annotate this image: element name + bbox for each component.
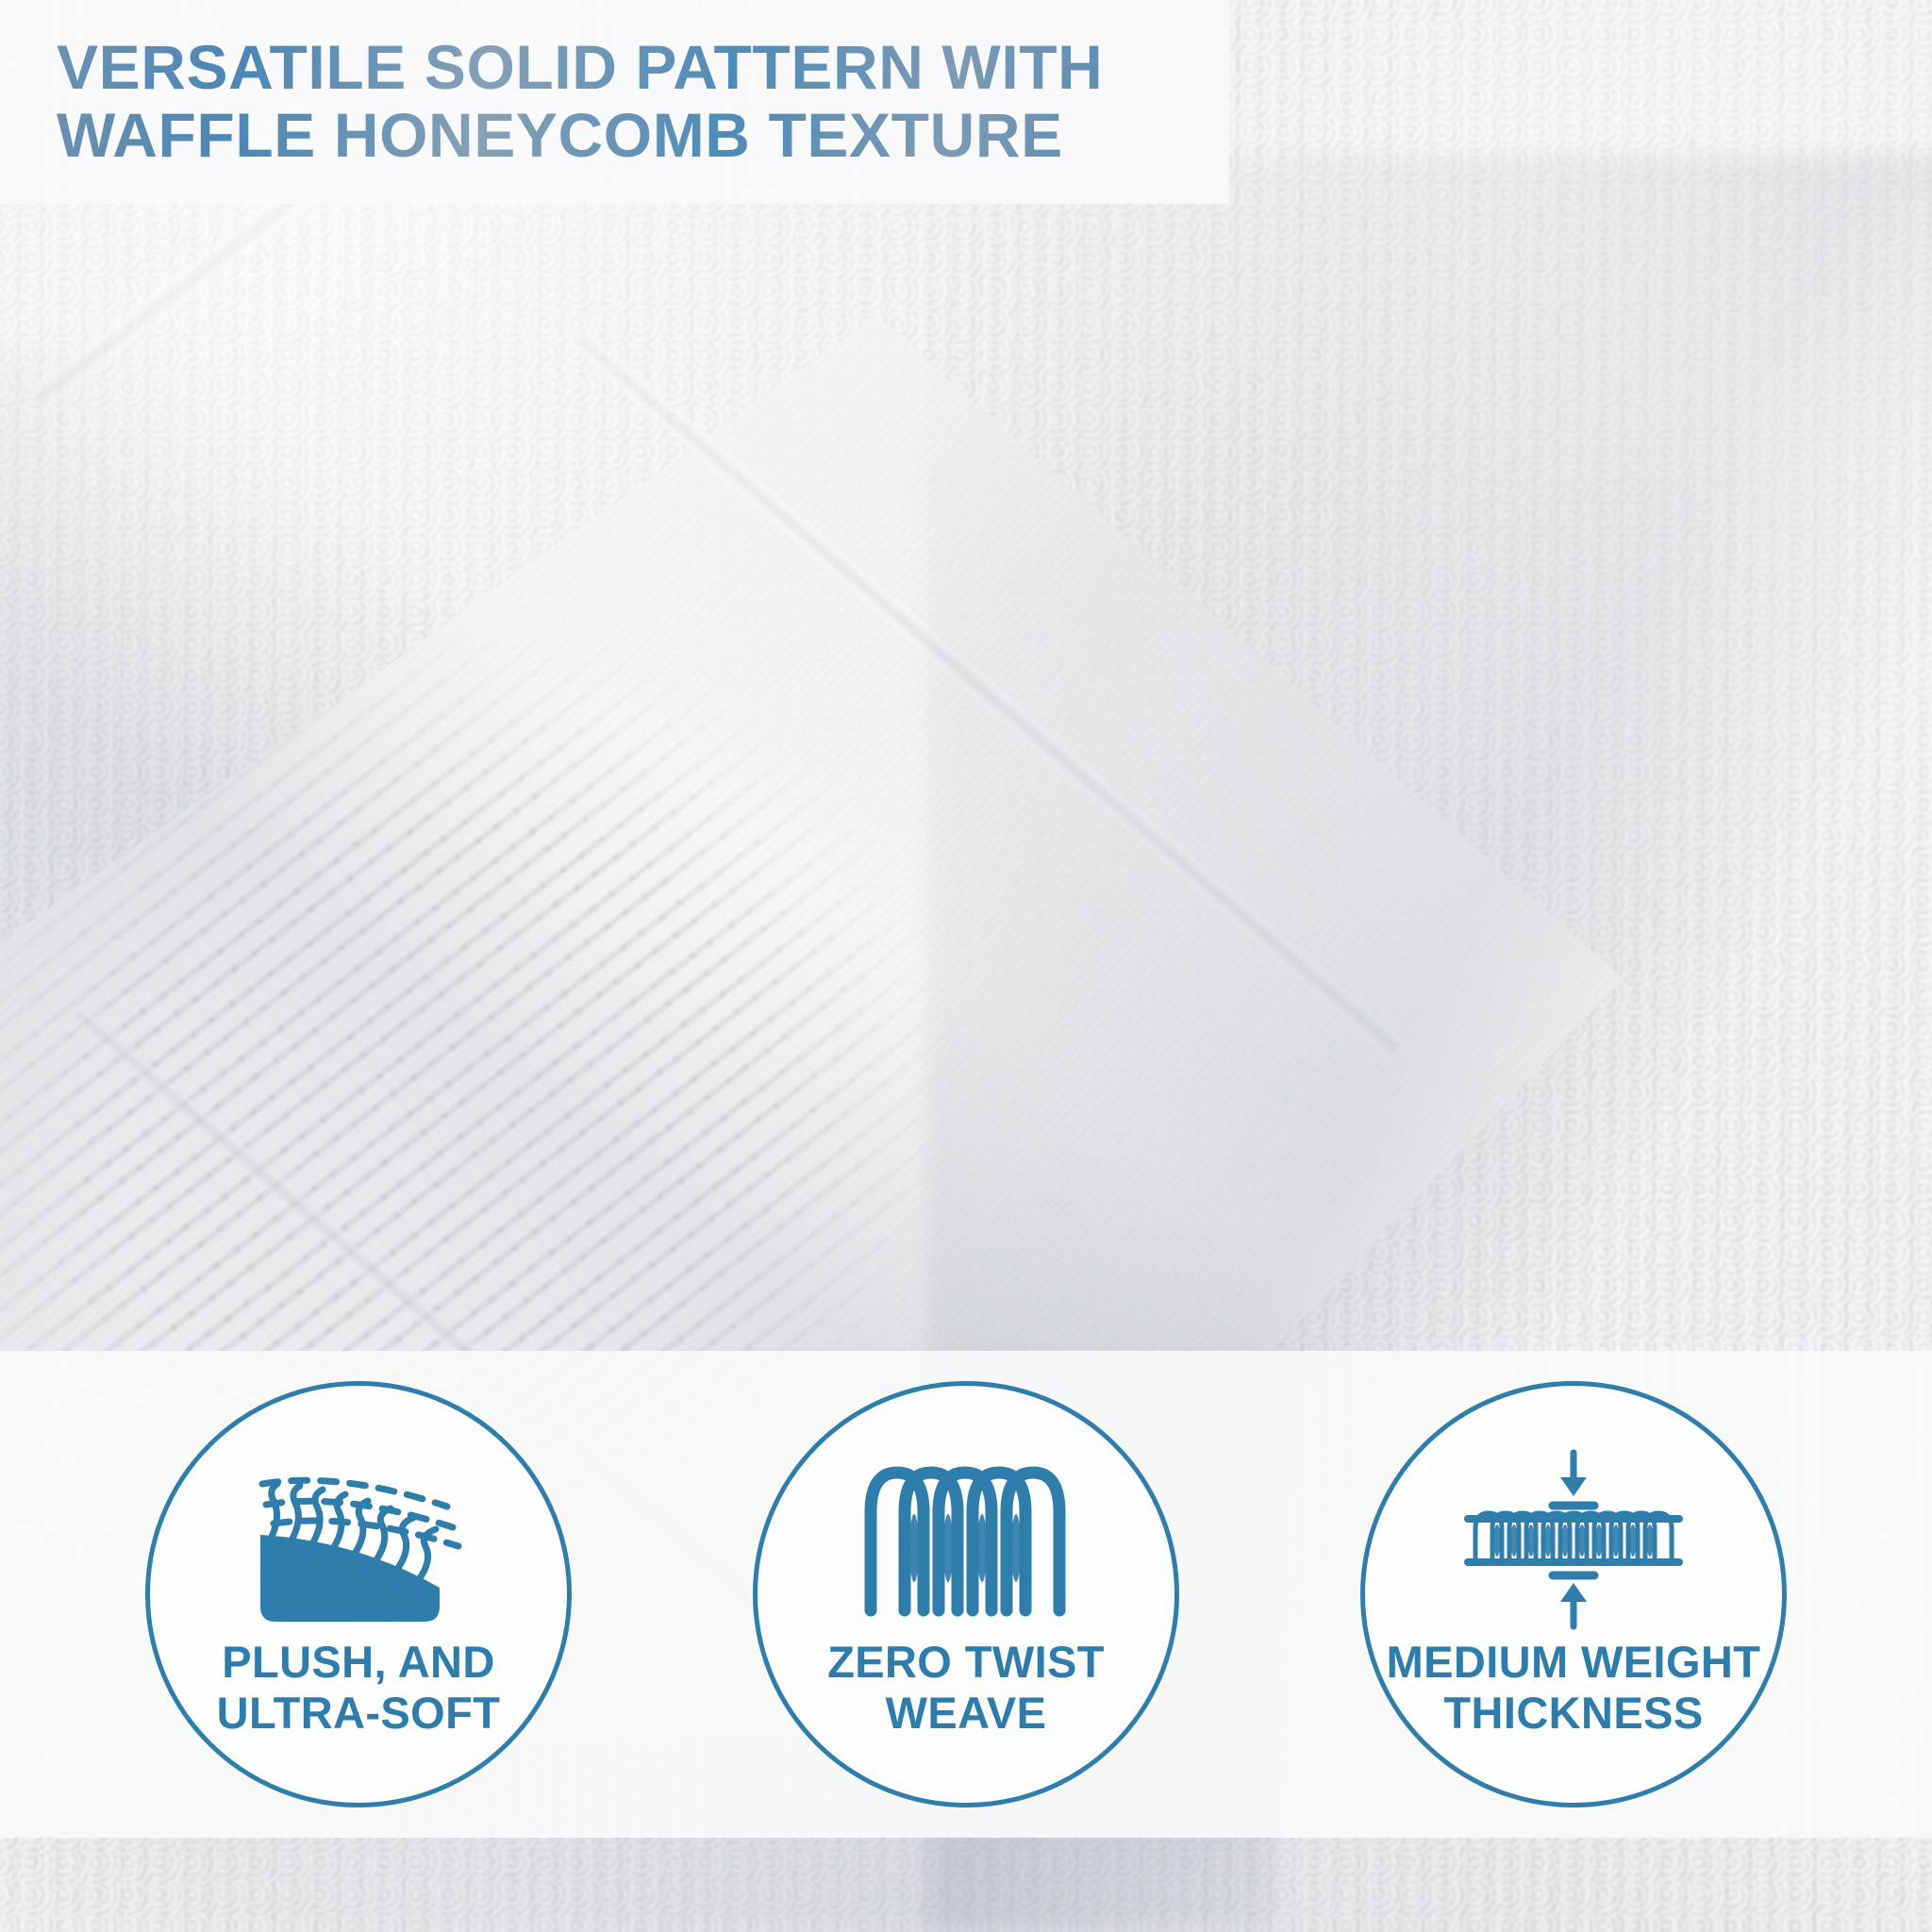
plush-pile-icon bbox=[245, 1450, 472, 1629]
feature-badge-zero-twist-weave: ZERO TWIST WEAVE bbox=[753, 1381, 1179, 1807]
feature-badge-plush-ultra-soft: PLUSH, AND ULTRA-SOFT bbox=[145, 1381, 572, 1807]
thickness-compression-icon bbox=[1447, 1450, 1700, 1629]
page-title: VERSATILE SOLID PATTERN WITH WAFFLE HONE… bbox=[0, 34, 1103, 170]
header-banner: VERSATILE SOLID PATTERN WITH WAFFLE HONE… bbox=[0, 0, 1229, 204]
feature-badge-label: PLUSH, AND ULTRA-SOFT bbox=[217, 1637, 501, 1738]
feature-badge-band: PLUSH, AND ULTRA-SOFT bbox=[0, 1351, 1932, 1838]
feature-badge-label: ZERO TWIST WEAVE bbox=[827, 1637, 1105, 1738]
feature-badge-label: MEDIUM WEIGHT THICKNESS bbox=[1387, 1637, 1761, 1738]
zero-twist-loop-icon bbox=[852, 1450, 1080, 1629]
feature-badge-medium-weight-thickness: MEDIUM WEIGHT THICKNESS bbox=[1360, 1381, 1787, 1807]
